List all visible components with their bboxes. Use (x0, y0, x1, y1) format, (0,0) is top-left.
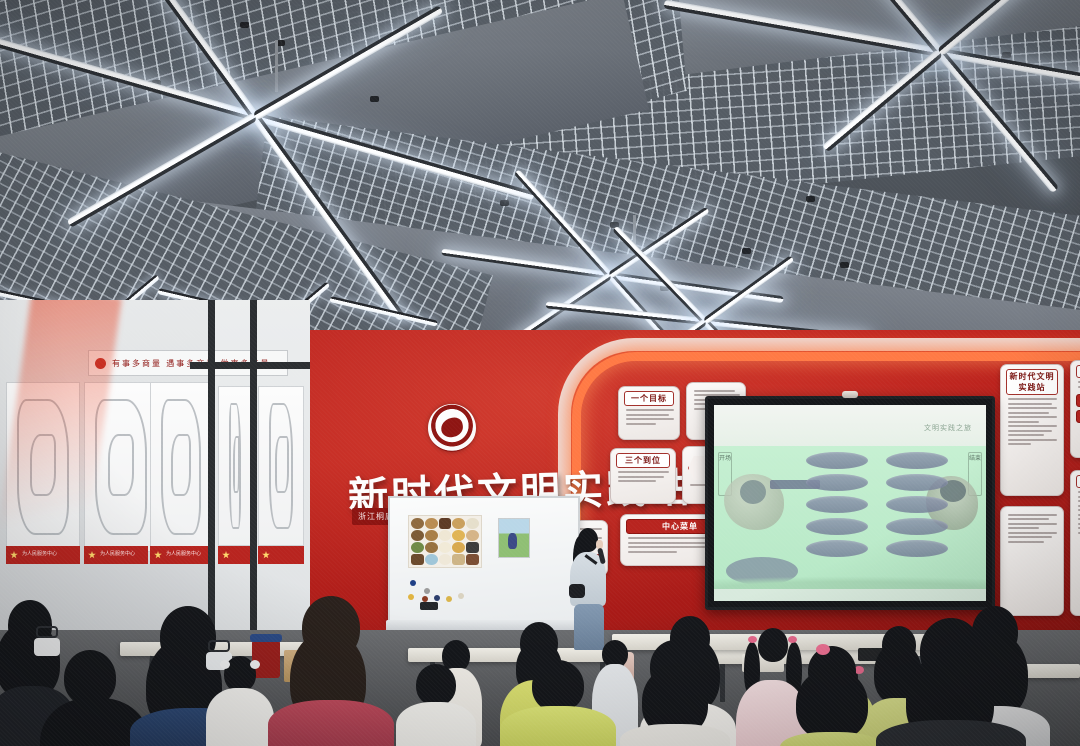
audience-child (206, 656, 274, 746)
board-footer-text: 为人民服务中心 (100, 552, 135, 558)
wall-card-lines (616, 471, 670, 482)
display-board (150, 382, 212, 552)
projection-screen-surface[interactable]: 文明实践之旅 开场 结束 (714, 405, 986, 601)
magnet-icon (434, 595, 440, 601)
wall-card-lines (1076, 491, 1080, 534)
ceiling-sensor-icon (370, 96, 379, 102)
wall-info-card (1000, 506, 1064, 616)
ceiling-sensor-icon (742, 248, 751, 254)
ceiling-sensor-icon (240, 22, 249, 28)
audience-child (500, 660, 616, 746)
display-board (218, 386, 252, 546)
magnet-icon (408, 594, 414, 600)
slide-bubble-column-left (806, 452, 868, 557)
wall-info-card (1070, 470, 1080, 616)
eyeglasses-icon (36, 626, 58, 638)
slide-bubble-column-right (886, 452, 948, 557)
slide-bubble (886, 540, 948, 557)
board-red-footer: 为人民服务中心 (84, 546, 148, 564)
wall-card-lines (624, 409, 674, 425)
slide-decor-wave (714, 571, 986, 589)
ceiling-sensor-icon (806, 196, 815, 202)
whiteboard[interactable] (388, 496, 580, 624)
slide-header-band: 文明实践之旅 (714, 405, 986, 446)
audience-child (620, 640, 730, 746)
wall-card-chip (1076, 410, 1080, 423)
wall-info-card: 三个到位 (610, 448, 676, 504)
slide-bubble (886, 496, 948, 513)
magnet-icon (424, 588, 430, 594)
ceiling-sensor-icon (840, 262, 849, 268)
wall-card-title: 一个目标 (624, 391, 674, 406)
board-red-footer (258, 546, 304, 564)
eyeglasses-icon (208, 640, 230, 652)
slide-bubble (806, 496, 868, 513)
projection-screen-frame[interactable]: 文明实践之旅 开场 结束 (705, 396, 995, 610)
magnet-icon (410, 580, 416, 586)
wall-info-card: 一个目标 (618, 386, 680, 440)
slide-bubble (886, 474, 948, 491)
magnet-icon (446, 596, 452, 602)
star-icon (88, 551, 96, 559)
organization-emblem-icon (428, 404, 476, 452)
star-icon (154, 551, 162, 559)
slide-bubble (806, 540, 868, 557)
board-footer-text: 为人民服务中心 (166, 552, 201, 558)
magnet-icon (458, 593, 464, 599)
crossbody-bag (569, 584, 585, 598)
audience-child (780, 646, 884, 746)
ceiling-sensor-icon (1002, 52, 1011, 58)
audience-person (876, 618, 1026, 746)
wall-info-card: 新时代文明实践站 (1000, 364, 1064, 496)
wall-card-lines (1006, 514, 1058, 543)
wall-card-lines (1076, 381, 1080, 388)
star-icon (222, 551, 230, 559)
ceiling-sensor-icon (500, 200, 509, 206)
board-red-footer: 为人民服务中心 (150, 546, 212, 564)
slide-bubble (806, 518, 868, 535)
audience-child (396, 664, 476, 746)
slide-bubble (886, 518, 948, 535)
childrens-drawing (498, 518, 530, 558)
slide-bubble (806, 452, 868, 469)
slide-body: 开场 结束 (714, 446, 986, 589)
wall-card-title (1076, 475, 1080, 488)
ceiling-pendant-rod (275, 40, 278, 92)
star-icon (262, 551, 270, 559)
display-board (258, 386, 304, 546)
wall-card-chip (1076, 394, 1080, 407)
wall-card-lines (1006, 398, 1058, 445)
wall-card-title (1076, 365, 1080, 378)
wall-card-title: 新时代文明实践站 (1006, 369, 1058, 395)
whiteboard-eraser[interactable] (420, 602, 438, 610)
food-illustration-poster (408, 515, 482, 568)
slide-title: 文明实践之旅 (924, 423, 972, 433)
slide-bubble (806, 474, 868, 491)
screen-camera-icon (842, 391, 858, 398)
slide-bubble (886, 452, 948, 469)
classroom-photo-scene: 新时代文明实践站 浙江桐庐 一个目标 三个到位 (0, 0, 1080, 746)
audience-person (268, 596, 394, 746)
wall-info-card (1070, 360, 1080, 458)
board-red-footer (218, 546, 252, 564)
wall-card-title: 三个到位 (616, 453, 670, 468)
